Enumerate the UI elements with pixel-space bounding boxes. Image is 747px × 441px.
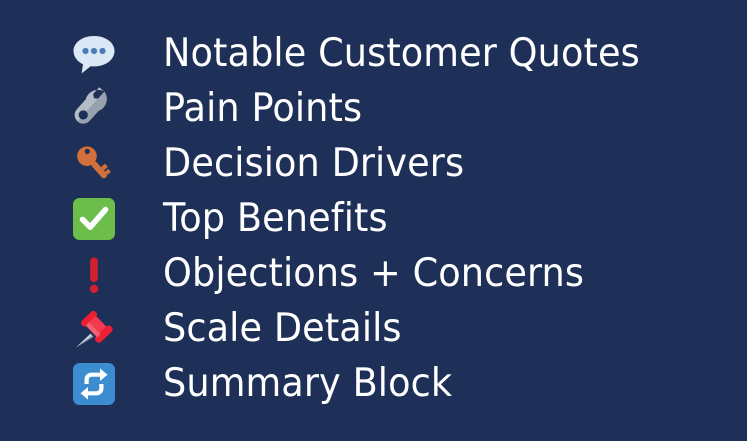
list-item[interactable]: Scale Details	[0, 301, 747, 356]
list-item[interactable]: Top Benefits	[0, 191, 747, 246]
list-item-label: Pain Points	[163, 89, 362, 128]
agenda-list: Notable Customer Quotes Pain Points	[0, 26, 747, 411]
repeat-button-icon	[68, 360, 120, 408]
check-mark-button-icon	[68, 195, 120, 243]
list-item[interactable]: Objections + Concerns	[0, 246, 747, 301]
list-item-label: Summary Block	[163, 364, 452, 403]
list-item[interactable]: Pain Points	[0, 81, 747, 136]
list-item-label: Top Benefits	[163, 199, 388, 238]
key-icon	[68, 140, 120, 188]
list-item[interactable]: Notable Customer Quotes	[0, 26, 747, 81]
exclamation-mark-icon	[68, 250, 120, 298]
list-item-label: Notable Customer Quotes	[163, 34, 640, 73]
list-item-label: Scale Details	[163, 309, 402, 348]
wrench-icon	[68, 85, 120, 133]
list-item-label: Objections + Concerns	[163, 254, 584, 293]
speech-balloon-icon	[68, 30, 120, 78]
list-item[interactable]: Summary Block	[0, 356, 747, 411]
pushpin-icon	[68, 305, 120, 353]
agenda-slide: Notable Customer Quotes Pain Points	[0, 0, 747, 441]
list-item-label: Decision Drivers	[163, 144, 464, 183]
list-item[interactable]: Decision Drivers	[0, 136, 747, 191]
